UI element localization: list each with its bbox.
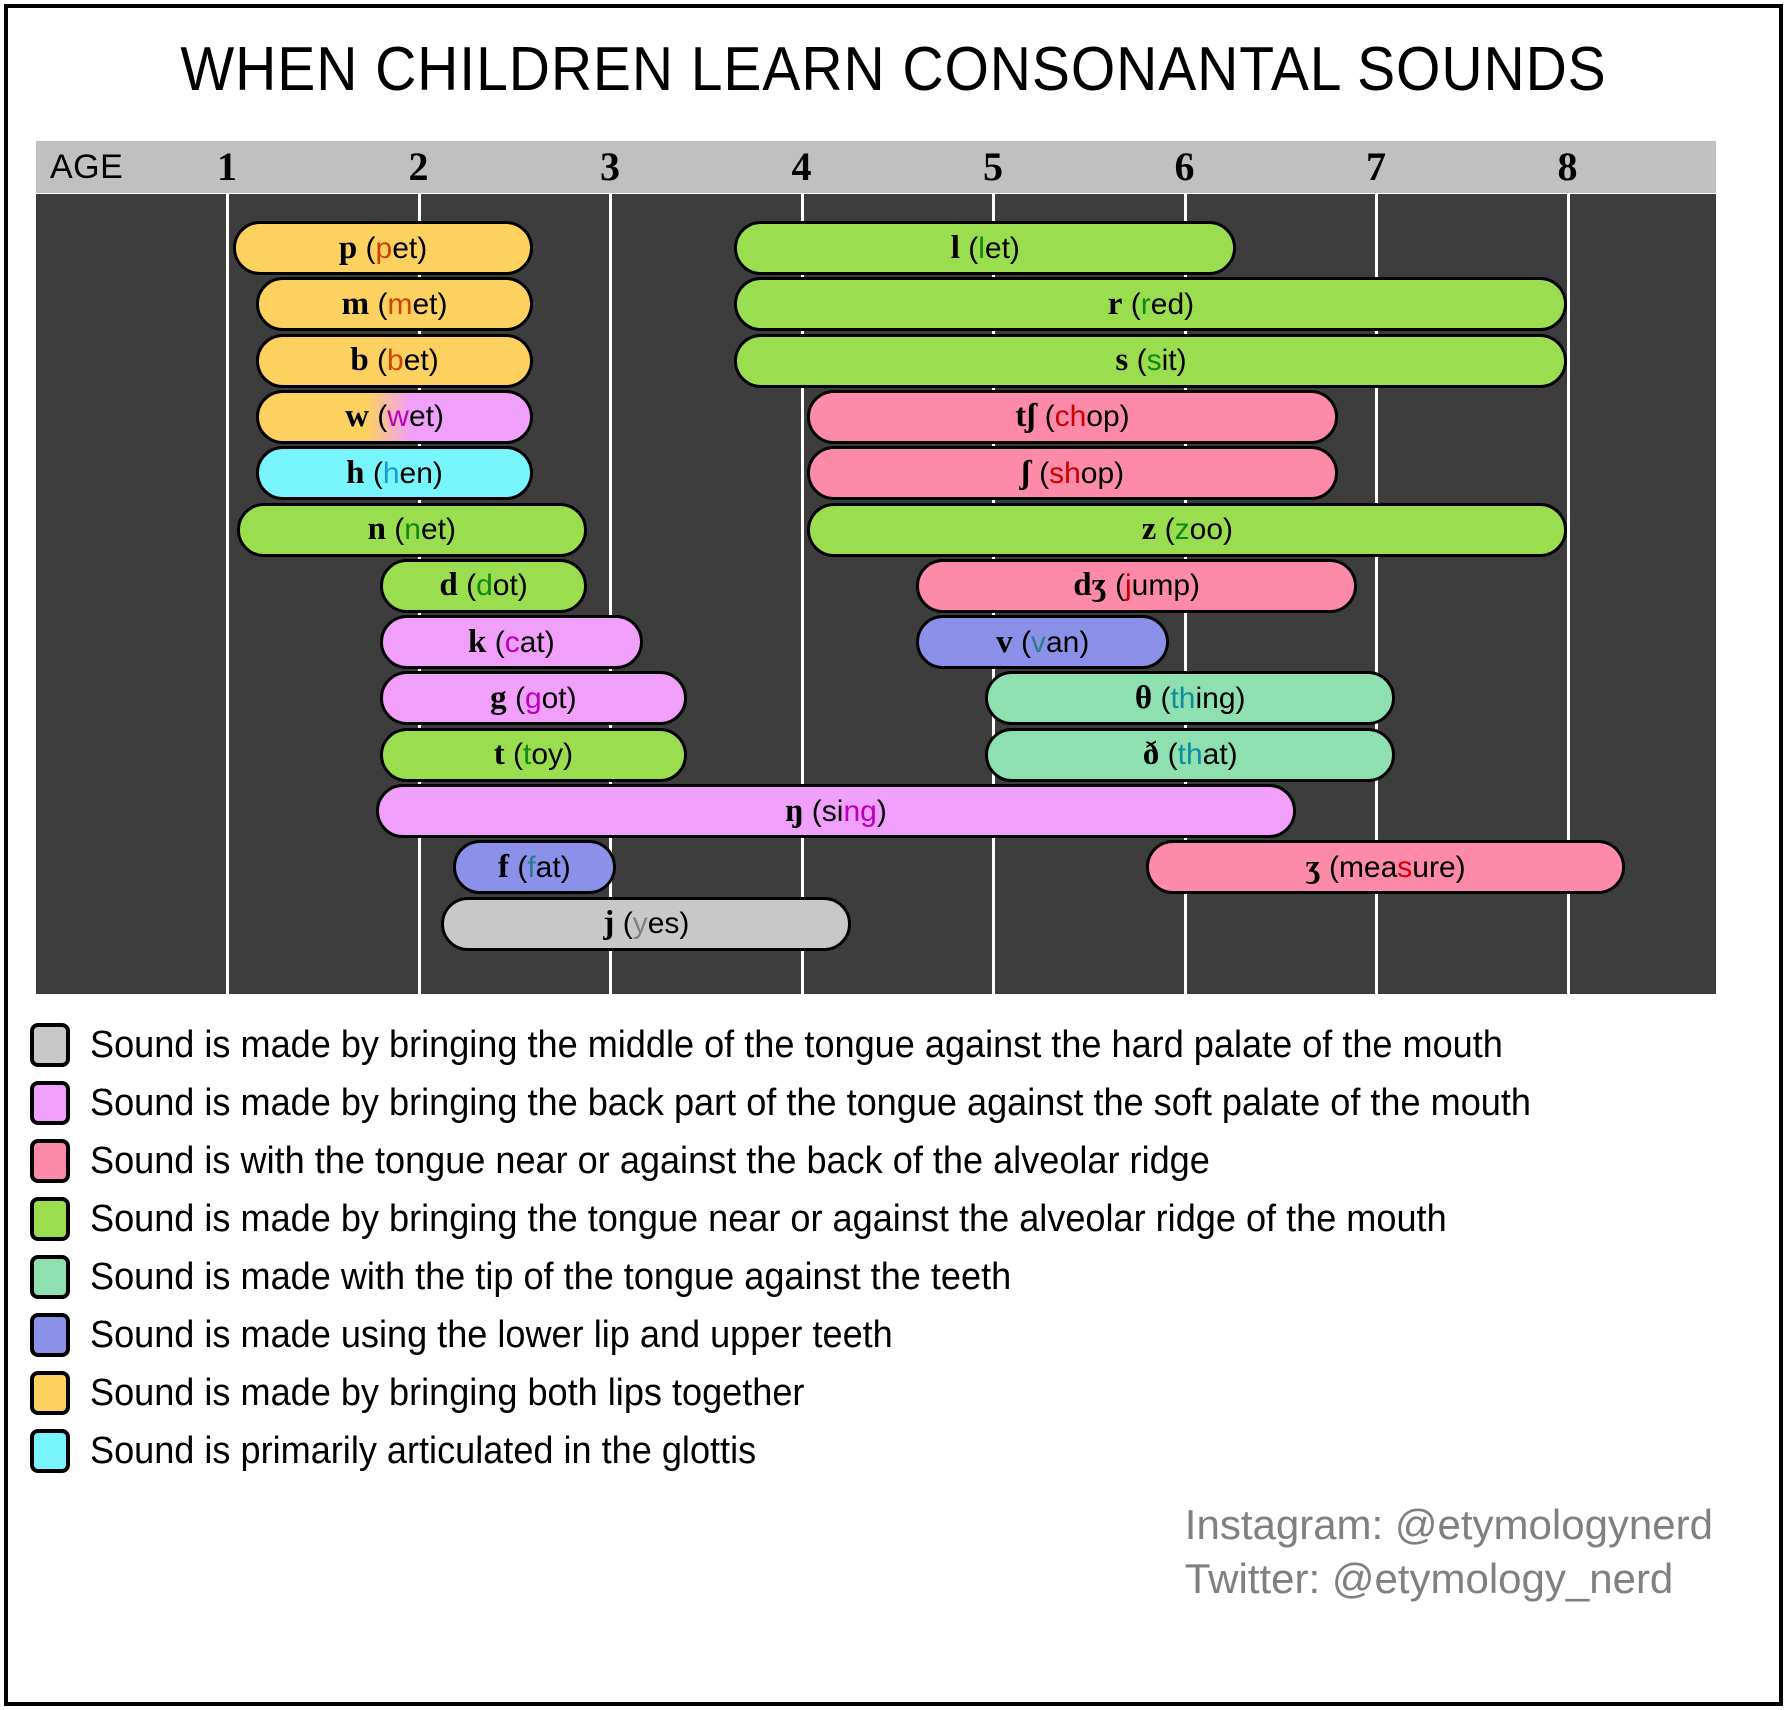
legend-swatch-labiodental-blue	[30, 1313, 70, 1357]
word-close-paren: )	[1010, 232, 1020, 265]
axis-tick-1: 1	[217, 141, 237, 193]
legend-row: Sound is primarily articulated in the gl…	[30, 1422, 1630, 1480]
word-plain: mea	[1339, 851, 1397, 884]
legend-row: Sound is made with the tip of the tongue…	[30, 1248, 1630, 1306]
axis-tick-7: 7	[1366, 141, 1386, 193]
word-highlight: w	[387, 400, 409, 433]
sound-bar-t: t (toy)	[380, 728, 686, 782]
sound-bar-label: w (wet)	[345, 398, 444, 435]
legend-swatch-bilabial-yellow	[30, 1371, 70, 1415]
word-open-paren: (	[1013, 626, 1031, 659]
word-highlight: r	[1141, 288, 1151, 321]
ipa-symbol: l	[951, 230, 960, 266]
word-close-paren: )	[679, 907, 689, 940]
sound-bar-f: f (fat)	[453, 840, 616, 894]
sound-bar-p: p (pet)	[233, 221, 534, 275]
word-open-paren: (	[458, 569, 476, 602]
word-close-paren: )	[1223, 513, 1233, 546]
ipa-symbol: z	[1142, 511, 1157, 547]
sound-bar-label: r (red)	[1108, 286, 1194, 323]
word-plain: at	[520, 626, 545, 659]
legend-row: Sound is made by bringing the tongue nea…	[30, 1190, 1630, 1248]
sound-bar-h: h (hen)	[256, 446, 534, 500]
legend-row: Sound is with the tongue near or against…	[30, 1132, 1630, 1190]
word-highlight: s	[1397, 851, 1412, 884]
word-plain: et	[985, 232, 1010, 265]
sound-bar-label: l (let)	[951, 230, 1020, 267]
word-close-paren: )	[561, 851, 571, 884]
sound-bar-label: k (cat)	[468, 624, 555, 661]
axis-tick-2: 2	[409, 141, 429, 193]
sound-bar-n: n (net)	[237, 503, 587, 557]
word-highlight: ch	[1055, 400, 1087, 433]
word-plain: ing	[1196, 682, 1236, 715]
ipa-symbol: k	[468, 624, 486, 660]
word-plain: op	[1081, 457, 1114, 490]
word-plain: ed	[1151, 288, 1184, 321]
word-plain: at	[536, 851, 561, 884]
word-plain: et	[412, 288, 437, 321]
sound-bar-j: j (yes)	[441, 897, 851, 951]
sound-bar-ð: ð (that)	[985, 728, 1395, 782]
sound-bar-s: s (sit)	[734, 334, 1567, 388]
word-plain: oo	[1190, 513, 1223, 546]
sound-bar-label: d (dot)	[439, 567, 527, 604]
sound-bar-ʃ: ʃ (shop)	[807, 446, 1337, 500]
word-close-paren: )	[545, 626, 555, 659]
legend-label: Sound is made by bringing both lips toge…	[90, 1372, 804, 1415]
word-plain: en	[400, 457, 433, 490]
word-close-paren: )	[1456, 851, 1466, 884]
ipa-symbol: w	[345, 398, 369, 434]
sound-bar-dʒ: dʒ (jump)	[916, 559, 1356, 613]
sound-bar-label: b (bet)	[350, 342, 438, 379]
sound-bar-label: m (met)	[342, 286, 448, 323]
word-open-paren: (	[369, 288, 387, 321]
ipa-symbol: t	[494, 736, 505, 772]
legend-row: Sound is made by bringing the middle of …	[30, 1016, 1630, 1074]
word-plain: si	[822, 795, 844, 828]
word-close-paren: )	[429, 344, 439, 377]
word-close-paren: )	[1079, 626, 1089, 659]
word-plain: ump	[1132, 569, 1190, 602]
sound-bar-l: l (let)	[734, 221, 1236, 275]
sound-bar-b: b (bet)	[256, 334, 534, 388]
ipa-symbol: p	[339, 230, 357, 266]
legend-label: Sound is made by bringing the back part …	[90, 1082, 1531, 1125]
word-open-paren: (	[357, 232, 375, 265]
word-close-paren: )	[437, 288, 447, 321]
legend-row: Sound is made by bringing the back part …	[30, 1074, 1630, 1132]
sound-bar-label: s (sit)	[1115, 342, 1186, 379]
word-open-paren: (	[369, 400, 387, 433]
axis-tick-6: 6	[1175, 141, 1195, 193]
word-highlight: th	[1178, 738, 1203, 771]
legend-label: Sound is made using the lower lip and up…	[90, 1314, 893, 1357]
sound-bar-z: z (zoo)	[807, 503, 1567, 557]
word-open-paren: (	[1122, 288, 1140, 321]
ipa-symbol: dʒ	[1073, 567, 1106, 603]
legend-label: Sound is made by bringing the middle of …	[90, 1024, 1503, 1067]
word-plain: et	[392, 232, 417, 265]
legend-swatch-dental-mint	[30, 1255, 70, 1299]
ipa-symbol: j	[603, 905, 614, 941]
legend-label: Sound is made by bringing the tongue nea…	[90, 1198, 1447, 1241]
ipa-symbol: m	[342, 286, 370, 322]
sound-bar-k: k (cat)	[380, 615, 642, 669]
word-highlight: sh	[1049, 457, 1081, 490]
word-open-paren: (	[509, 851, 527, 884]
sound-bar-label: z (zoo)	[1142, 511, 1233, 548]
gridline-age-1	[226, 194, 229, 994]
legend-swatch-palatal-gray	[30, 1023, 70, 1067]
word-open-paren: (	[803, 795, 821, 828]
word-close-paren: )	[1236, 682, 1246, 715]
word-highlight: m	[387, 288, 412, 321]
word-highlight: g	[525, 682, 542, 715]
ipa-symbol: s	[1115, 342, 1128, 378]
word-highlight: ng	[843, 795, 876, 828]
word-close-paren: )	[1177, 344, 1187, 377]
word-plain-after: ure	[1412, 851, 1455, 884]
word-close-paren: )	[446, 513, 456, 546]
axis-tick-5: 5	[983, 141, 1003, 193]
ipa-symbol: ŋ	[785, 793, 803, 829]
word-open-paren: (	[505, 738, 523, 771]
word-open-paren: (	[486, 626, 504, 659]
legend: Sound is made by bringing the middle of …	[30, 1016, 1630, 1480]
word-open-paren: (	[1031, 457, 1049, 490]
word-highlight: c	[505, 626, 520, 659]
sound-bar-label: ŋ (sing)	[785, 793, 887, 830]
ipa-symbol: f	[498, 849, 509, 885]
ipa-symbol: d	[439, 567, 457, 603]
legend-row: Sound is made using the lower lip and up…	[30, 1306, 1630, 1364]
credit-instagram: Instagram: @etymologynerd	[1185, 1498, 1713, 1552]
word-close-paren: )	[417, 232, 427, 265]
word-plain: an	[1046, 626, 1079, 659]
legend-label: Sound is primarily articulated in the gl…	[90, 1430, 756, 1473]
word-highlight: h	[383, 457, 400, 490]
word-plain: ot	[542, 682, 567, 715]
legend-swatch-alveolar-green	[30, 1197, 70, 1241]
credits: Instagram: @etymologynerd Twitter: @etym…	[1185, 1498, 1713, 1606]
axis-label-age: AGE	[50, 141, 123, 193]
word-close-paren: )	[1184, 288, 1194, 321]
sound-bar-label: θ (thing)	[1135, 680, 1246, 717]
word-open-paren: (	[386, 513, 404, 546]
sound-bar-label: f (fat)	[498, 849, 571, 886]
word-close-paren: )	[563, 738, 573, 771]
word-plain: ot	[493, 569, 518, 602]
word-plain: oy	[531, 738, 563, 771]
word-open-paren: (	[1036, 400, 1054, 433]
word-plain: et	[404, 344, 429, 377]
word-highlight: s	[1147, 344, 1162, 377]
axis-tick-3: 3	[600, 141, 620, 193]
word-highlight: n	[404, 513, 421, 546]
sound-bar-g: g (got)	[380, 671, 686, 725]
word-plain: es	[648, 907, 680, 940]
word-plain: op	[1086, 400, 1119, 433]
word-open-paren: (	[1321, 851, 1339, 884]
word-close-paren: )	[1120, 400, 1130, 433]
sound-bar-label: ð (that)	[1143, 736, 1238, 773]
word-open-paren: (	[1128, 344, 1146, 377]
word-open-paren: (	[960, 232, 978, 265]
word-open-paren: (	[365, 457, 383, 490]
word-plain: et	[421, 513, 446, 546]
sound-bar-m: m (met)	[256, 277, 534, 331]
ipa-symbol: ʒ	[1305, 849, 1320, 885]
sound-bar-label: tʃ (chop)	[1015, 398, 1129, 435]
word-open-paren: (	[369, 344, 387, 377]
legend-swatch-velar-magenta	[30, 1081, 70, 1125]
word-close-paren: )	[877, 795, 887, 828]
word-open-paren: (	[1156, 513, 1174, 546]
sound-bar-ŋ: ŋ (sing)	[376, 784, 1295, 838]
word-highlight: z	[1175, 513, 1190, 546]
sound-bar-label: t (toy)	[494, 736, 573, 773]
sound-bar-w: w (wet)	[256, 390, 534, 444]
ipa-symbol: h	[346, 455, 364, 491]
word-plain: at	[1203, 738, 1228, 771]
word-open-paren: (	[1152, 682, 1170, 715]
word-open-paren: (	[614, 907, 632, 940]
sound-bar-label: ʃ (shop)	[1021, 455, 1124, 492]
ipa-symbol: n	[368, 511, 386, 547]
ipa-symbol: ð	[1143, 736, 1160, 772]
sound-bar-v: v (van)	[916, 615, 1169, 669]
word-highlight: d	[476, 569, 493, 602]
word-highlight: v	[1031, 626, 1046, 659]
legend-swatch-glottal-cyan	[30, 1429, 70, 1473]
word-highlight: l	[978, 232, 985, 265]
age-axis-header: AGE 12345678	[36, 141, 1716, 193]
word-close-paren: )	[433, 457, 443, 490]
ipa-symbol: g	[490, 680, 507, 716]
word-plain: it	[1162, 344, 1177, 377]
word-open-paren: (	[1107, 569, 1125, 602]
sound-bar-θ: θ (thing)	[985, 671, 1395, 725]
sound-bar-label: j (yes)	[603, 905, 689, 942]
word-open-paren: (	[507, 682, 525, 715]
sound-bar-tʃ: tʃ (chop)	[807, 390, 1337, 444]
ipa-symbol: v	[996, 624, 1013, 660]
sound-bar-label: p (pet)	[339, 230, 427, 267]
word-close-paren: )	[1228, 738, 1238, 771]
word-close-paren: )	[1114, 457, 1124, 490]
page-title: WHEN CHILDREN LEARN CONSONANTAL SOUNDS	[79, 34, 1708, 105]
poster-frame: WHEN CHILDREN LEARN CONSONANTAL SOUNDS A…	[4, 4, 1783, 1706]
axis-tick-8: 8	[1558, 141, 1578, 193]
sound-bar-label: v (van)	[996, 624, 1089, 661]
ipa-symbol: tʃ	[1015, 398, 1036, 434]
word-close-paren: )	[434, 400, 444, 433]
sound-bar-label: n (net)	[368, 511, 456, 548]
sound-bar-ʒ: ʒ (measure)	[1146, 840, 1625, 894]
word-highlight: b	[387, 344, 404, 377]
word-highlight: j	[1125, 569, 1132, 602]
sound-bar-label: dʒ (jump)	[1073, 567, 1200, 604]
word-open-paren: (	[1159, 738, 1177, 771]
axis-tick-4: 4	[792, 141, 812, 193]
word-close-paren: )	[567, 682, 577, 715]
ipa-symbol: θ	[1135, 680, 1152, 716]
word-highlight: th	[1170, 682, 1195, 715]
sound-bar-label: g (got)	[490, 680, 577, 717]
legend-swatch-postalveolar-pink	[30, 1139, 70, 1183]
legend-row: Sound is made by bringing both lips toge…	[30, 1364, 1630, 1422]
ipa-symbol: r	[1108, 286, 1123, 322]
sound-bar-r: r (red)	[734, 277, 1567, 331]
word-highlight: y	[633, 907, 648, 940]
word-close-paren: )	[518, 569, 528, 602]
sound-bar-label: h (hen)	[346, 455, 443, 492]
word-plain: et	[409, 400, 434, 433]
credit-twitter: Twitter: @etymology_nerd	[1185, 1552, 1713, 1606]
word-highlight: p	[376, 232, 393, 265]
word-highlight: f	[527, 851, 535, 884]
sound-bar-d: d (dot)	[380, 559, 587, 613]
ipa-symbol: b	[350, 342, 368, 378]
legend-label: Sound is with the tongue near or against…	[90, 1140, 1210, 1183]
ipa-symbol: ʃ	[1021, 455, 1031, 491]
chart-plot-area: p (pet)m (met)b (bet)w (wet)h (hen)n (ne…	[36, 194, 1716, 994]
legend-label: Sound is made with the tip of the tongue…	[90, 1256, 1011, 1299]
word-close-paren: )	[1190, 569, 1200, 602]
sound-bar-label: ʒ (measure)	[1305, 849, 1465, 886]
